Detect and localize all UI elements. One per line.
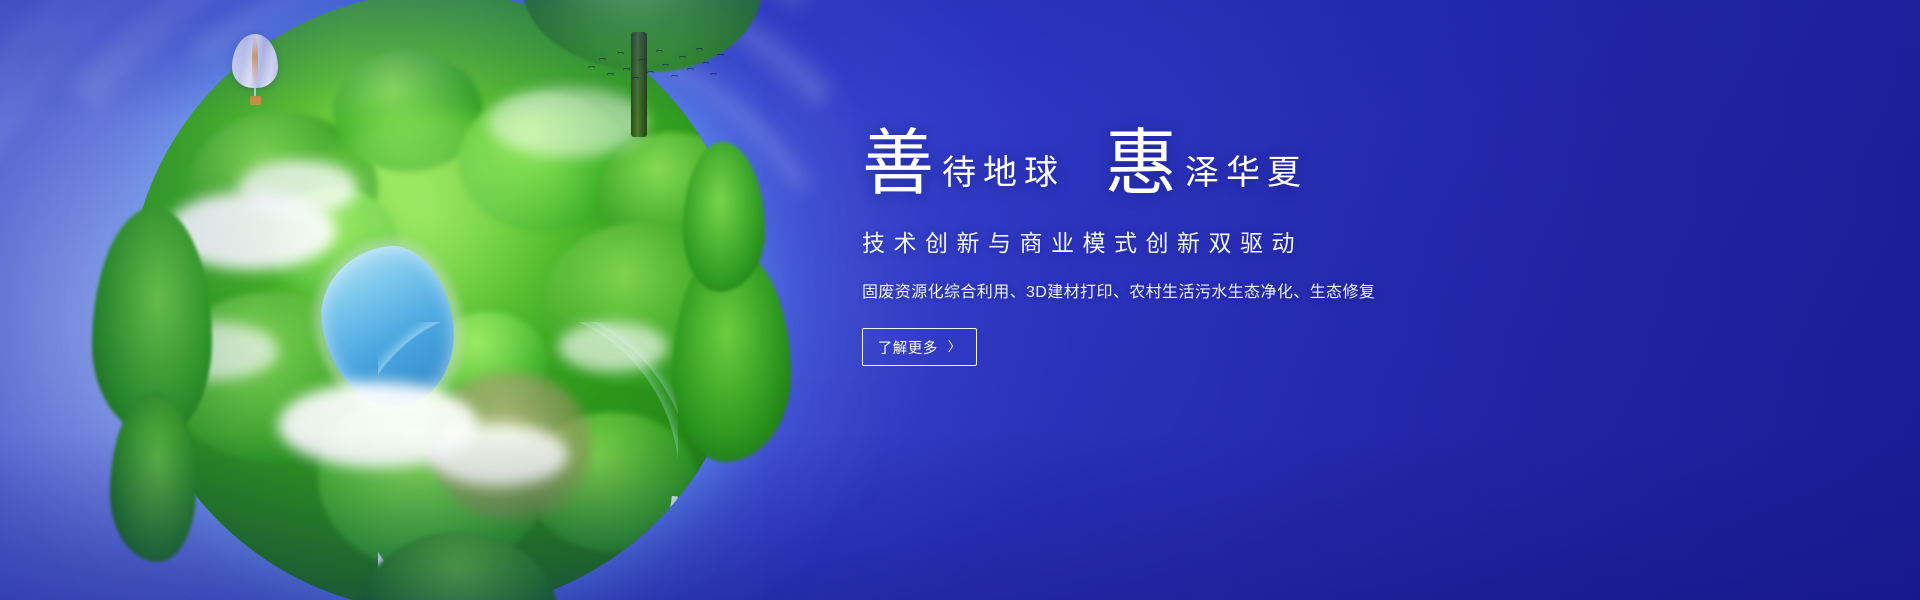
headline-lead-char-1: 善 [862, 130, 934, 198]
headline-rest-chars-2: 泽华夏 [1185, 157, 1308, 191]
headline-lead-char-2: 惠 [1105, 130, 1177, 198]
learn-more-label: 了解更多 [878, 337, 938, 358]
headline-rest-chars-1: 待地球 [942, 157, 1065, 191]
hero-banner: 善 待地球 惠 泽华夏 技术创新与商业模式创新双驱动 固废资源化综合利用、3D建… [0, 0, 1920, 600]
banner-headline: 善 待地球 惠 泽华夏 [862, 130, 1502, 198]
headline-group-2: 惠 泽华夏 [1105, 130, 1308, 198]
banner-subtitle: 技术创新与商业模式创新双驱动 [862, 224, 1502, 258]
banner-description: 固废资源化综合利用、3D建材打印、农村生活污水生态净化、生态修复 [862, 278, 1502, 302]
banner-text-block: 善 待地球 惠 泽华夏 技术创新与商业模式创新双驱动 固废资源化综合利用、3D建… [862, 130, 1502, 366]
headline-group-1: 善 待地球 [862, 130, 1065, 198]
chevron-right-icon: 〉 [948, 340, 962, 353]
learn-more-button[interactable]: 了解更多 〉 [862, 328, 977, 366]
